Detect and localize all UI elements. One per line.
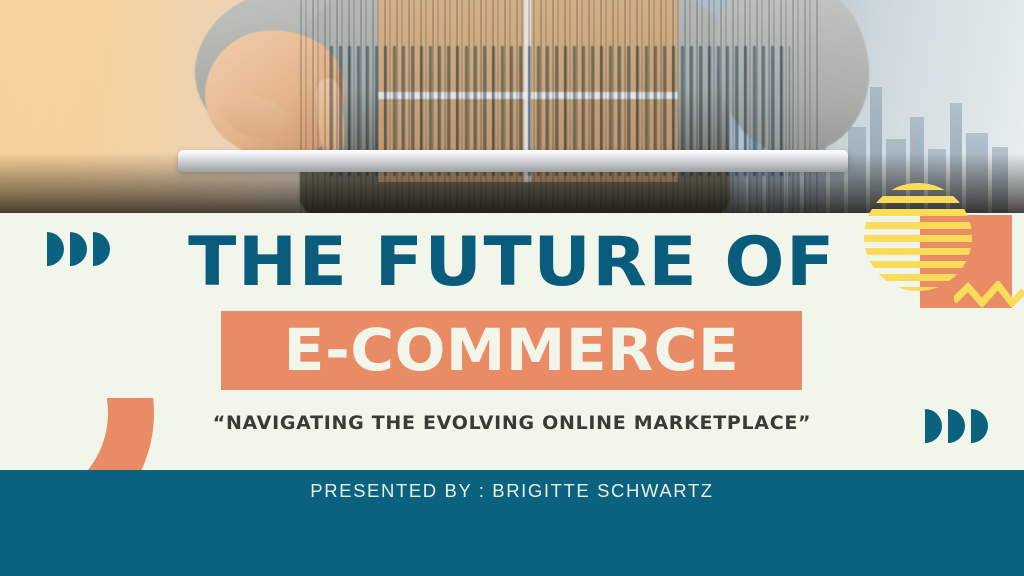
presenter-credit: PRESENTED BY : BRIGITTE SCHWARTZ xyxy=(0,480,1024,502)
hero-image xyxy=(0,0,1024,213)
presentation-slide: THE FUTURE OF E-COMMERCE “NAVIGATING THE… xyxy=(0,0,1024,576)
page-title-line2: E-COMMERCE xyxy=(212,318,810,382)
footer-bar: PRESENTED BY : BRIGITTE SCHWARTZ xyxy=(0,470,1024,576)
page-title-line1: THE FUTURE OF xyxy=(0,229,1024,297)
